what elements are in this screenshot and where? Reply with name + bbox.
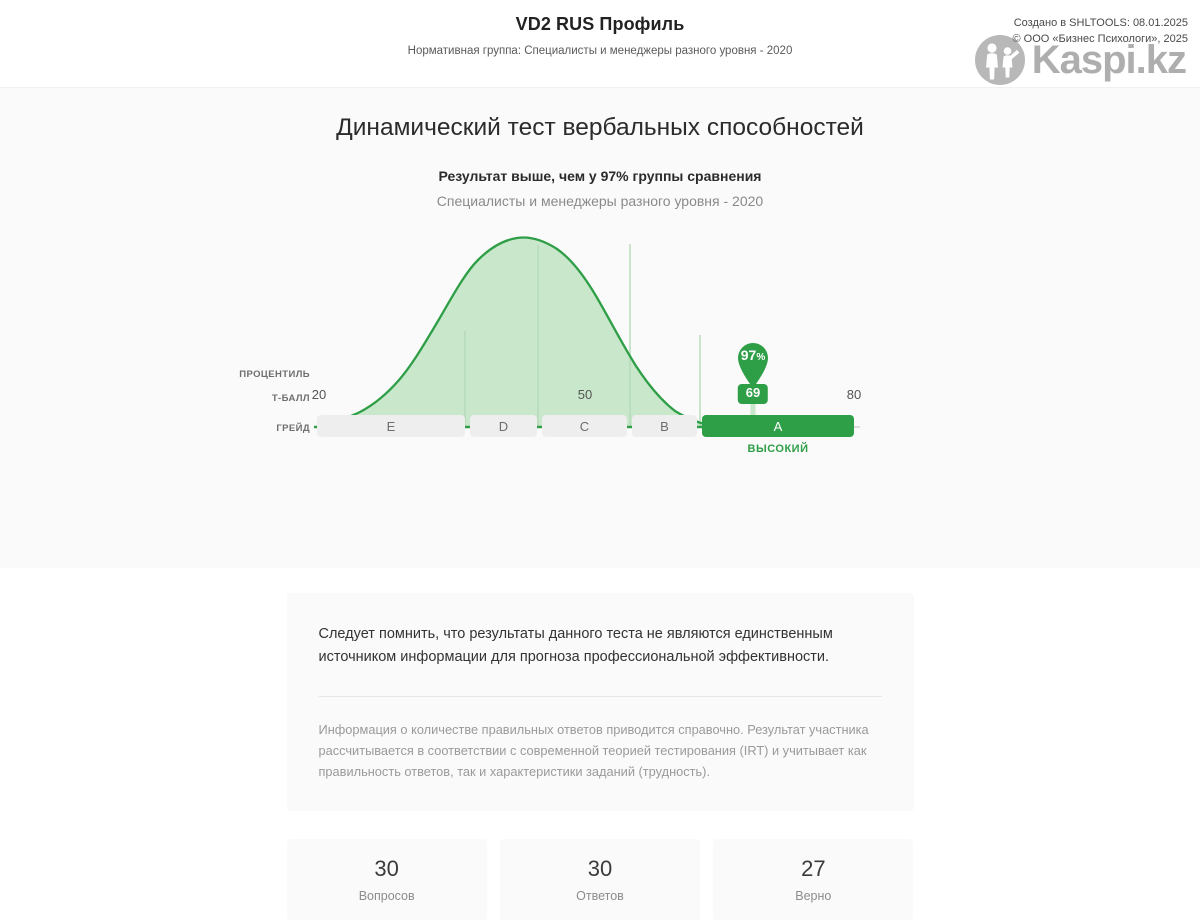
distribution-plot: 97% ПРОЦЕНТИЛЬ Т-БАЛЛ ГРЕЙД 20 50 80 69 … — [0, 227, 1200, 527]
lower-section: Следует помнить, что результаты данного … — [0, 568, 1200, 920]
stat-card-answers: 30 Ответов — [500, 839, 700, 920]
disclaimer-main-text: Следует помнить, что результаты данного … — [319, 623, 882, 670]
grade-bar-a-label: A — [774, 419, 783, 434]
header-meta: Создано в SHLTOOLS: 08.01.2025 © ООО «Би… — [1013, 16, 1188, 48]
grade-bar-a[interactable]: A — [702, 415, 854, 437]
grade-bar-b[interactable]: B — [632, 415, 697, 437]
created-in-shltools-text: Создано в SHLTOOLS: 08.01.2025 — [1013, 16, 1188, 32]
grade-bar-d[interactable]: D — [470, 415, 537, 437]
stat-value-answers: 30 — [500, 856, 700, 882]
page-header: VD2 RUS Профиль Нормативная группа: Спец… — [0, 0, 1200, 88]
pin-percentile-label: 97% — [732, 347, 774, 363]
chart-section: Динамический тест вербальных способносте… — [0, 88, 1200, 568]
grade-bar-b-label: B — [660, 419, 669, 434]
comparison-group-text: Специалисты и менеджеры разного уровня -… — [0, 193, 1200, 209]
grade-bar-e-label: E — [387, 419, 396, 434]
stat-value-questions: 30 — [287, 856, 487, 882]
test-name-heading: Динамический тест вербальных способносте… — [0, 88, 1200, 142]
tick-label-80: 80 — [847, 387, 861, 402]
card-divider — [319, 696, 882, 697]
pin-shape-icon — [732, 337, 774, 389]
axis-label-tscore: Т-БАЛЛ — [150, 393, 310, 404]
stat-label-correct: Верно — [713, 889, 913, 903]
tick-label-20: 20 — [312, 387, 326, 402]
grade-bar-c[interactable]: C — [542, 415, 627, 437]
stat-card-questions: 30 Вопросов — [287, 839, 487, 920]
tscore-value-badge: 69 — [738, 384, 768, 404]
stat-value-correct: 27 — [713, 856, 913, 882]
grade-bar-row: E D C B A — [0, 415, 1200, 437]
stat-card-correct: 27 Верно — [713, 839, 913, 920]
copyright-text: © ООО «Бизнес Психологи», 2025 — [1013, 32, 1188, 48]
grade-level-caption: ВЫСОКИЙ — [702, 443, 854, 455]
stat-label-questions: Вопросов — [287, 889, 487, 903]
grade-bar-d-label: D — [499, 419, 508, 434]
stats-row: 30 Вопросов 30 Ответов 27 Верно — [287, 839, 914, 920]
pin-percent-sign: % — [756, 352, 765, 363]
result-summary-text: Результат выше, чем у 97% группы сравнен… — [0, 168, 1200, 184]
disclaimer-card: Следует помнить, что результаты данного … — [287, 593, 914, 811]
grade-bar-e[interactable]: E — [317, 415, 465, 437]
axis-label-percentile: ПРОЦЕНТИЛЬ — [150, 369, 310, 380]
percentile-pin-marker[interactable]: 97% — [732, 337, 774, 389]
grade-bar-c-label: C — [580, 419, 589, 434]
tick-label-50: 50 — [578, 387, 592, 402]
disclaimer-secondary-text: Информация о количестве правильных ответ… — [319, 719, 882, 783]
curve-area-green — [317, 237, 753, 427]
curve-geometry — [314, 237, 860, 527]
pin-percentile-value: 97 — [741, 347, 757, 363]
stat-label-answers: Ответов — [500, 889, 700, 903]
